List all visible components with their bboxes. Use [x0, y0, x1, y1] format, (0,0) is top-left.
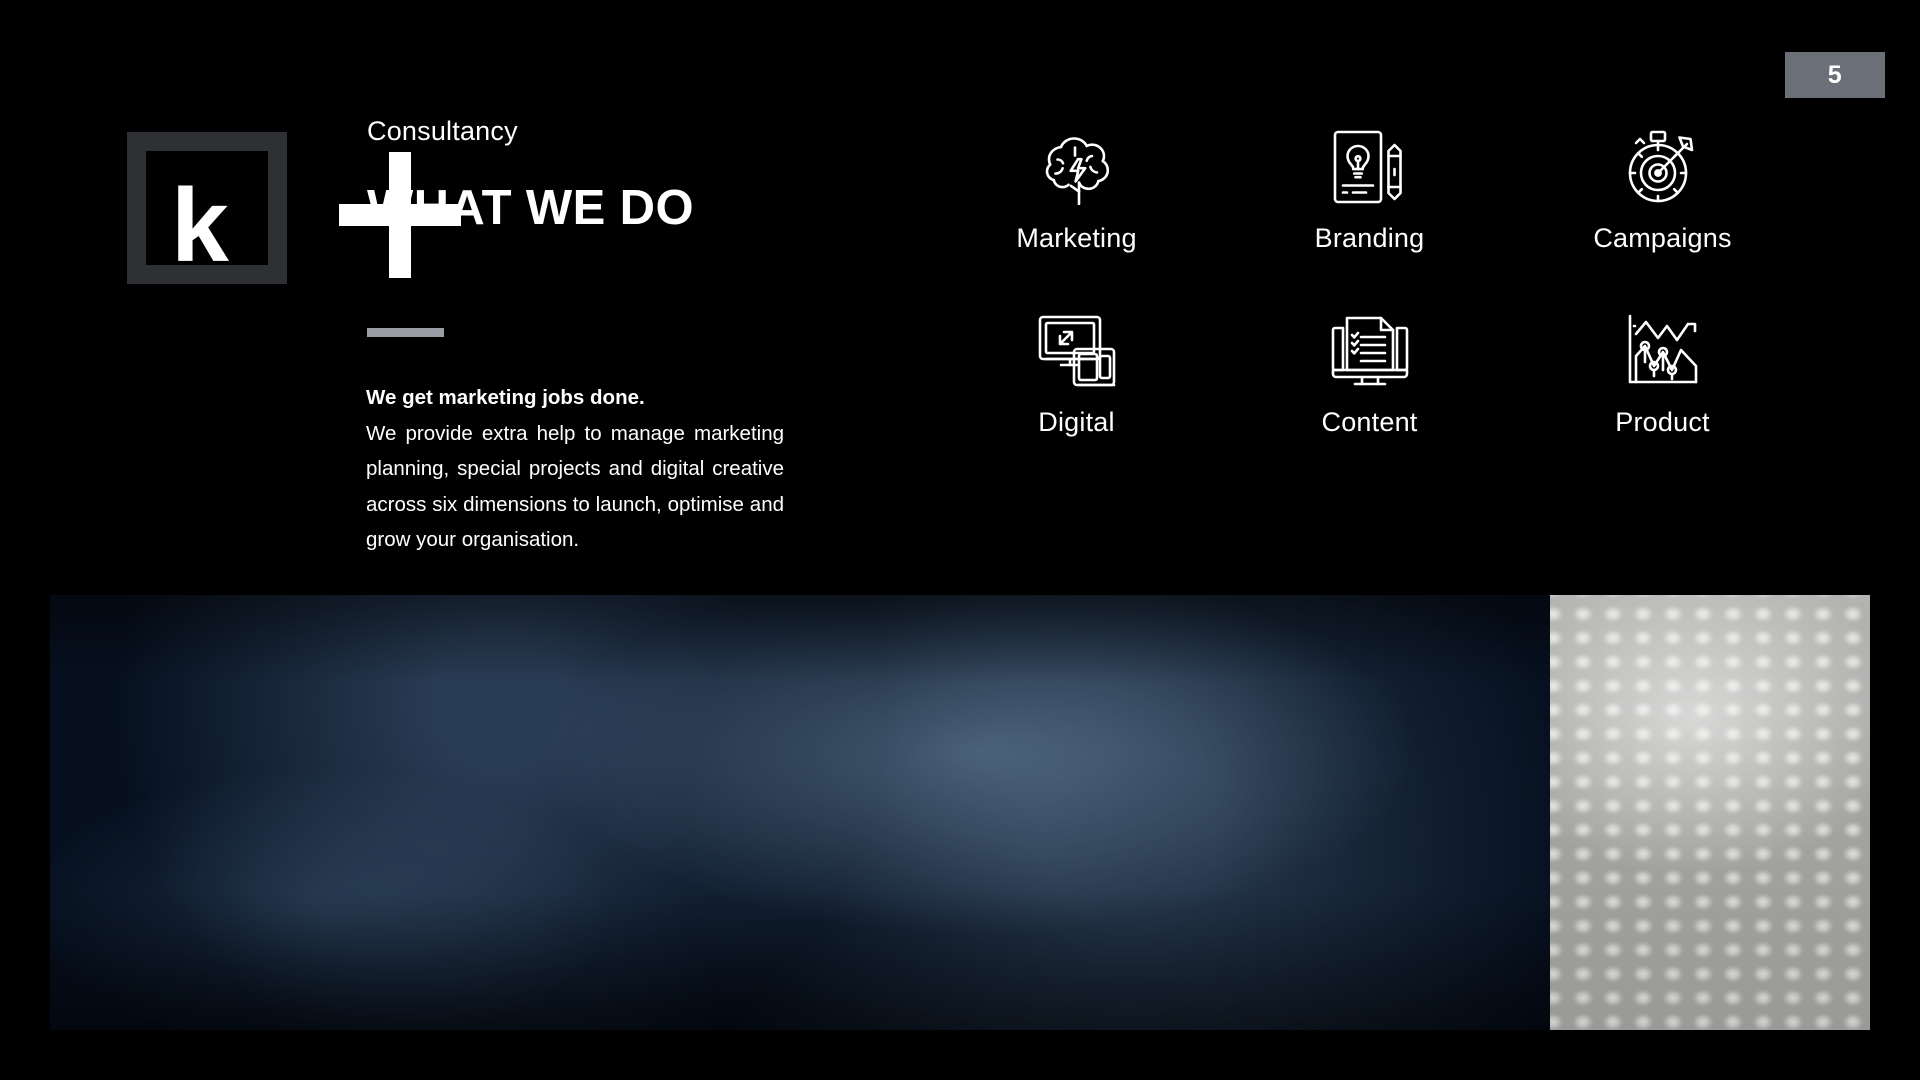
hero-texture-light-panel [1550, 595, 1870, 1030]
page-title: WHAT WE DO [367, 180, 694, 236]
service-label: Marketing [1016, 223, 1136, 254]
service-item-content[interactable]: Content [1223, 309, 1516, 438]
line-chart-growth-icon [1622, 309, 1704, 393]
monitor-checklist-icon [1329, 309, 1411, 393]
page-number-badge: 5 [1785, 52, 1885, 98]
services-grid: Marketing [930, 125, 1810, 438]
stopwatch-target-arrow-icon [1621, 125, 1705, 209]
service-label: Campaigns [1593, 223, 1731, 254]
logo-letter-k: k [171, 174, 229, 278]
service-item-product[interactable]: Product [1516, 309, 1809, 438]
service-label: Branding [1315, 223, 1425, 254]
hero-texture-blue [50, 595, 1550, 1030]
brand-logo: k [127, 94, 297, 284]
body-lead: We get marketing jobs done. [366, 380, 784, 416]
brain-lightning-icon [1035, 125, 1119, 209]
services-row-2: Digital Content [930, 309, 1810, 438]
service-label: Product [1615, 407, 1709, 438]
texture-shadow-overlay [50, 595, 1550, 1030]
service-item-branding[interactable]: Branding [1223, 125, 1516, 254]
divider-rule [367, 328, 444, 337]
service-item-marketing[interactable]: Marketing [930, 125, 1223, 254]
service-label: Content [1322, 407, 1418, 438]
body-text: We provide extra help to manage marketin… [366, 422, 784, 552]
texture-highlight-overlay-light [1550, 595, 1870, 1030]
page-number-value: 5 [1828, 61, 1842, 90]
service-label: Digital [1038, 407, 1114, 438]
services-row-1: Marketing [930, 125, 1810, 254]
service-item-digital[interactable]: Digital [930, 309, 1223, 438]
responsive-devices-icon [1036, 309, 1118, 393]
hero-image-band: CREATIVITY [50, 595, 1870, 1030]
body-copy: We get marketing jobs done.We provide ex… [366, 380, 784, 558]
lightbulb-page-pencil-icon [1330, 125, 1410, 209]
service-item-campaigns[interactable]: Campaigns [1516, 125, 1809, 254]
section-eyebrow: Consultancy [367, 116, 518, 147]
